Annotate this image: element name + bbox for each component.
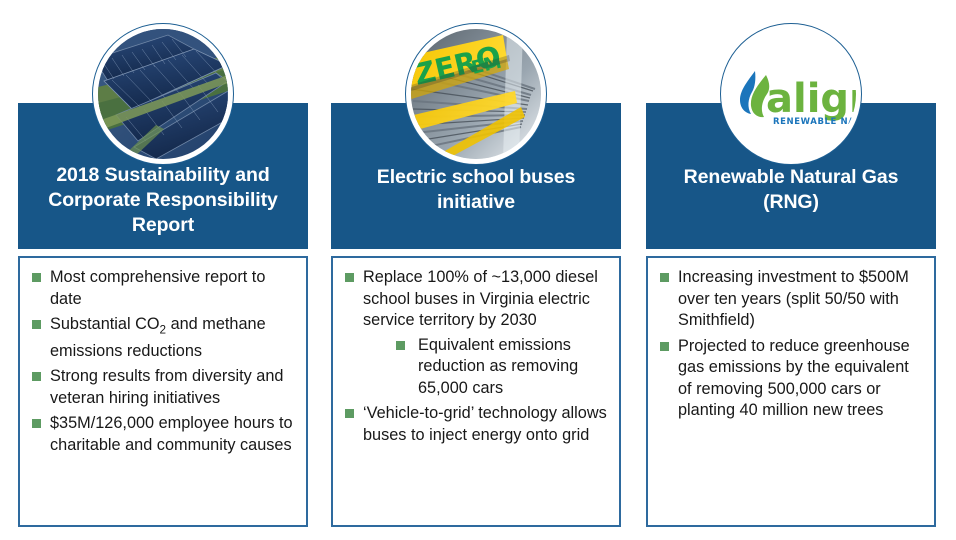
bullet-square-icon [396,341,405,350]
bullet-square-icon [660,342,669,351]
svg-text:align: align [766,76,856,122]
sub-list-item-text: Equivalent emissions reduction as removi… [418,336,578,397]
card-sustainability-report: 2018 Sustainability and Corporate Respon… [18,103,308,249]
list-item-text: Projected to reduce greenhouse gas emiss… [678,337,910,420]
bullet-square-icon [345,409,354,418]
sub-list-item: Equivalent emissions reduction as removi… [390,335,611,400]
list-item-text: $35M/126,000 employee hours to charitabl… [50,414,293,454]
card-body-sustainability-report: Most comprehensive report to date Substa… [18,256,308,527]
solar-panel-array-photo [92,23,234,165]
card-renewable-natural-gas: align RENEWABLE NATURAL GAS Renewable Na… [646,103,936,249]
align-renewable-natural-gas-logo: align RENEWABLE NATURAL GAS [720,23,862,165]
bullet-square-icon [345,273,354,282]
bullet-square-icon [32,320,41,329]
list-item-text: Substantial CO2 and methane emissions re… [50,315,266,360]
card-title: Electric school buses initiative [347,165,605,239]
logo-tagline: RENEWABLE NATURAL GAS [773,117,856,127]
list-item-text: ‘Vehicle-to-grid’ technology allows buse… [363,404,607,444]
list-item: Increasing investment to $500M over ten … [654,267,926,332]
list-item-text: Strong results from diversity and vetera… [50,367,283,407]
bullet-square-icon [32,273,41,282]
list-item-text: Replace 100% of ~13,000 diesel school bu… [363,268,598,329]
card-title: 2018 Sustainability and Corporate Respon… [34,163,292,239]
card-title: Renewable Natural Gas (RNG) [662,165,920,239]
text-pre: Substantial CO [50,315,160,333]
list-item: Replace 100% of ~13,000 diesel school bu… [339,267,611,399]
card-body-renewable-natural-gas: Increasing investment to $500M over ten … [646,256,936,527]
list-item: $35M/126,000 employee hours to charitabl… [26,413,298,456]
bullet-list: Most comprehensive report to date Substa… [26,267,298,456]
solar-panel-array-image [98,29,228,159]
bullet-square-icon [660,273,669,282]
list-item: Strong results from diversity and vetera… [26,366,298,409]
bullet-list: Increasing investment to $500M over ten … [654,267,926,422]
list-item-text: Increasing investment to $500M over ten … [678,268,909,329]
align-logo-image: align RENEWABLE NATURAL GAS [726,29,856,159]
list-item: Substantial CO2 and methane emissions re… [26,314,298,362]
bullet-square-icon [32,419,41,428]
sub-bullet-list: Equivalent emissions reduction as removi… [363,335,611,400]
bullet-square-icon [32,372,41,381]
zero-emissions-school-bus-image: ZERO EM [411,29,541,159]
three-panel-highlights-slide: 2018 Sustainability and Corporate Respon… [0,0,956,540]
bullet-list: Replace 100% of ~13,000 diesel school bu… [339,267,611,446]
list-item: Projected to reduce greenhouse gas emiss… [654,336,926,422]
zero-emissions-school-bus-photo: ZERO EM [405,23,547,165]
list-item: ‘Vehicle-to-grid’ technology allows buse… [339,403,611,446]
card-body-electric-school-buses: Replace 100% of ~13,000 diesel school bu… [331,256,621,527]
card-electric-school-buses: ZERO EM Electric school buses initiative… [331,103,621,249]
list-item-text: Most comprehensive report to date [50,268,265,308]
list-item: Most comprehensive report to date [26,267,298,310]
